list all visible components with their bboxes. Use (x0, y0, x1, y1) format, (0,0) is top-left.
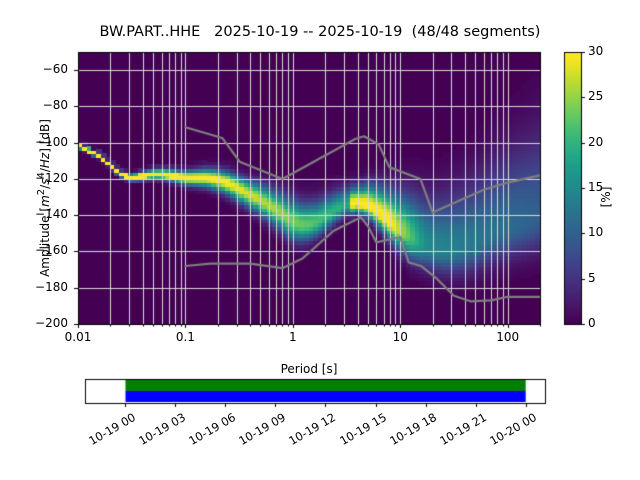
colorbar-tick-label: 25 (588, 89, 628, 103)
x-tick-label: 100 (473, 330, 543, 344)
ppsd-plot-canvas (0, 0, 640, 480)
x-tick-label: 0.1 (150, 330, 220, 344)
x-tick-label: 1 (258, 330, 328, 344)
y-tick-label: −180 (8, 280, 68, 294)
colorbar-tick-label: 15 (588, 180, 628, 194)
y-tick-label: −60 (8, 62, 68, 76)
y-tick-label: −100 (8, 135, 68, 149)
y-tick-label: −160 (8, 243, 68, 257)
colorbar-tick-label: 30 (588, 44, 628, 58)
page-title: BW.PART..HHE 2025-10-19 -- 2025-10-19 (4… (0, 24, 640, 40)
y-tick-label: −200 (8, 316, 68, 330)
colorbar-tick-label: 10 (588, 225, 628, 239)
x-tick-label: 10 (365, 330, 435, 344)
x-axis-label: Period [s] (78, 362, 540, 376)
x-tick-label: 0.01 (43, 330, 113, 344)
colorbar-tick-label: 20 (588, 135, 628, 149)
ppsd-figure: BW.PART..HHE 2025-10-19 -- 2025-10-19 (4… (0, 0, 640, 480)
colorbar-tick-label: 5 (588, 271, 628, 285)
y-tick-label: −140 (8, 207, 68, 221)
y-tick-label: −80 (8, 98, 68, 112)
y-tick-label: −120 (8, 171, 68, 185)
colorbar-tick-label: 0 (588, 316, 628, 330)
